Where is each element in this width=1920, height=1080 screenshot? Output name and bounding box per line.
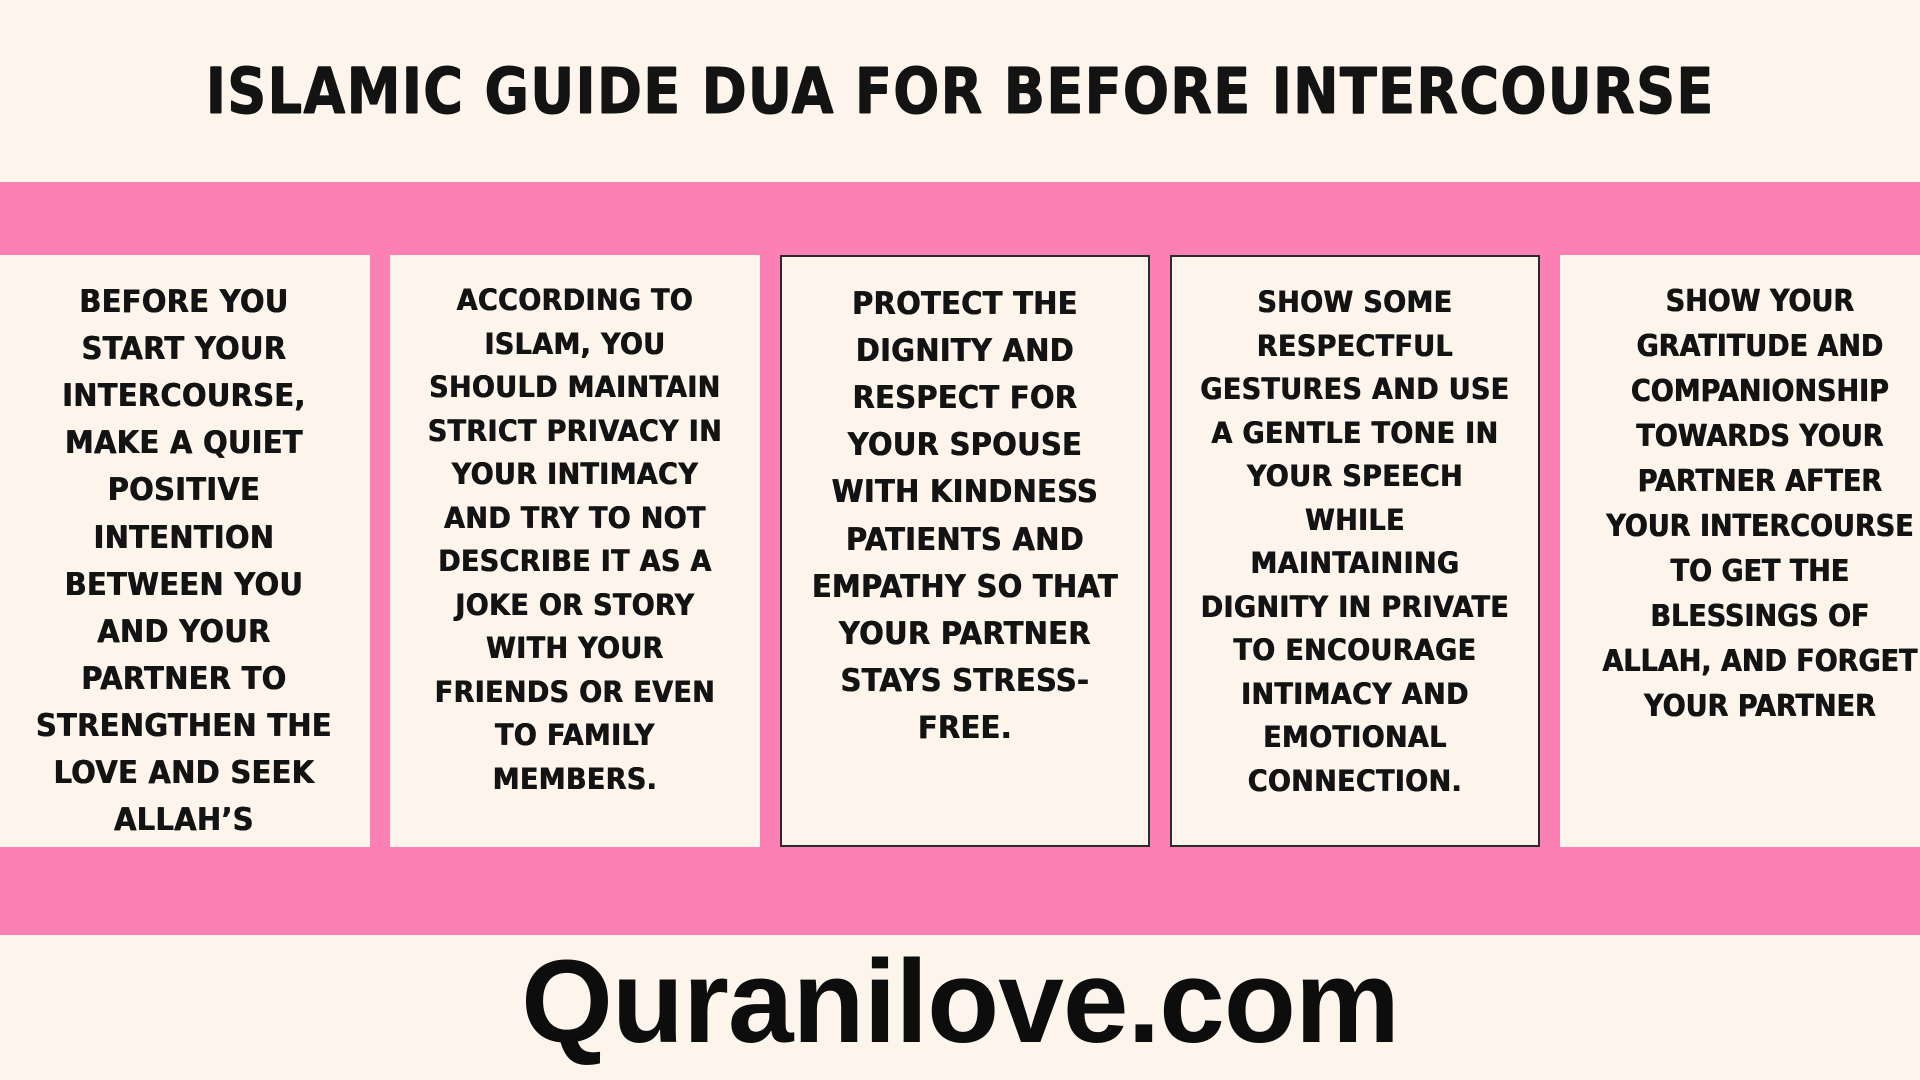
tip-card-4-text: Show some respectful gestures and use a …	[1198, 281, 1512, 803]
website-label: Quranilove.com	[521, 943, 1399, 1061]
tip-card-5: Show your gratitude and companionship to…	[1560, 255, 1920, 847]
cards-row: Before you start your intercourse, make …	[0, 255, 1920, 847]
tip-card-3-text: Protect the dignity and respect for your…	[808, 281, 1122, 752]
infographic-root: Islamic Guide Dua for Before Intercourse…	[0, 0, 1920, 1080]
tip-card-2: According to Islam, you should maintain …	[390, 255, 760, 847]
tip-card-4: Show some respectful gestures and use a …	[1170, 255, 1540, 847]
tip-card-3: Protect the dignity and respect for your…	[780, 255, 1150, 847]
tip-card-1-text: Before you start your intercourse, make …	[24, 279, 344, 847]
title-bar: Islamic Guide Dua for Before Intercourse	[0, 0, 1920, 182]
page-title: Islamic Guide Dua for Before Intercourse	[206, 55, 1715, 128]
tip-card-5-text: Show your gratitude and companionship to…	[1593, 279, 1920, 729]
tip-card-1: Before you start your intercourse, make …	[0, 255, 370, 847]
footer-bar: Quranilove.com	[0, 935, 1920, 1080]
tip-card-2-text: According to Islam, you should maintain …	[416, 279, 734, 801]
